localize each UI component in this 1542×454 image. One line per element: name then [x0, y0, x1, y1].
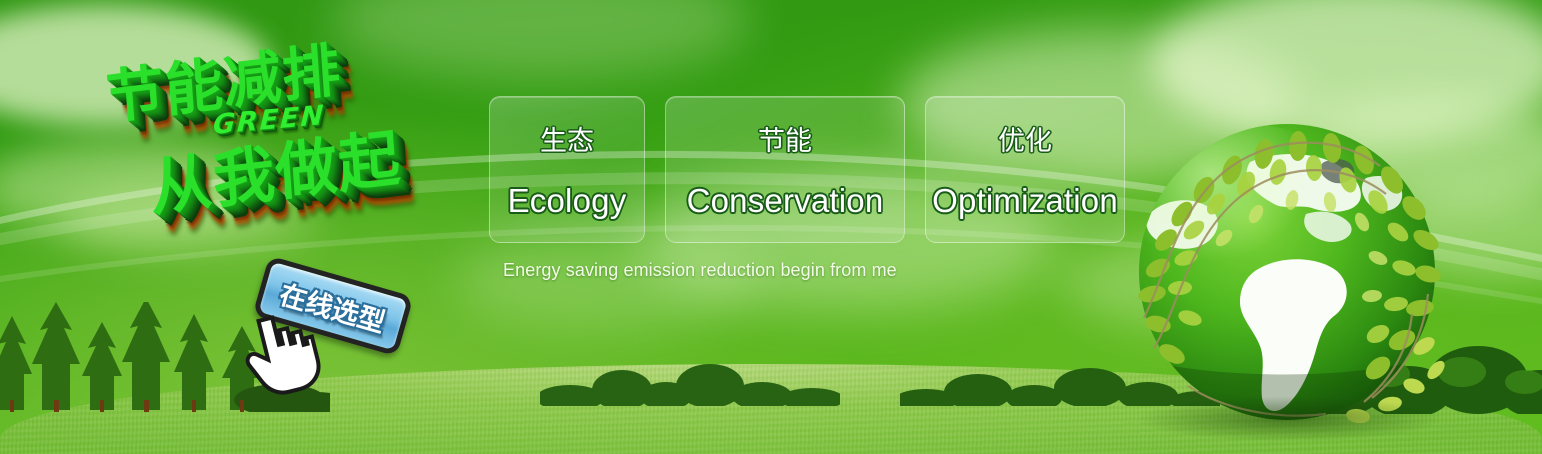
green-earth-globe-icon [1128, 118, 1446, 436]
eco-promo-banner: 节能减排 GREEN 从我做起 在线选型 生态 Ecology 节能 Conse… [0, 0, 1542, 454]
feature-card-en-label: Optimization [932, 182, 1118, 220]
feature-card-cn-label: 优化 [998, 119, 1052, 158]
pointing-hand-cursor-icon [243, 310, 323, 396]
feature-card-conservation[interactable]: 节能 Conservation [665, 96, 905, 243]
headline-3d-text: 节能减排 GREEN 从我做起 [95, 23, 514, 287]
feature-card-cn-label: 生态 [540, 119, 594, 158]
globe-shadow [1134, 396, 1444, 442]
feature-card-en-label: Ecology [508, 182, 627, 220]
feature-card-list: 生态 Ecology 节能 Conservation 优化 Optimizati… [489, 96, 1125, 243]
headline-line-2: 从我做起 [148, 127, 402, 220]
globe-illustration [1128, 118, 1446, 436]
feature-card-ecology[interactable]: 生态 Ecology [489, 96, 645, 243]
feature-card-cn-label: 节能 [758, 119, 812, 158]
feature-card-optimization[interactable]: 优化 Optimization [925, 96, 1125, 243]
banner-tagline: Energy saving emission reduction begin f… [503, 260, 897, 281]
feature-card-en-label: Conservation [687, 182, 884, 220]
